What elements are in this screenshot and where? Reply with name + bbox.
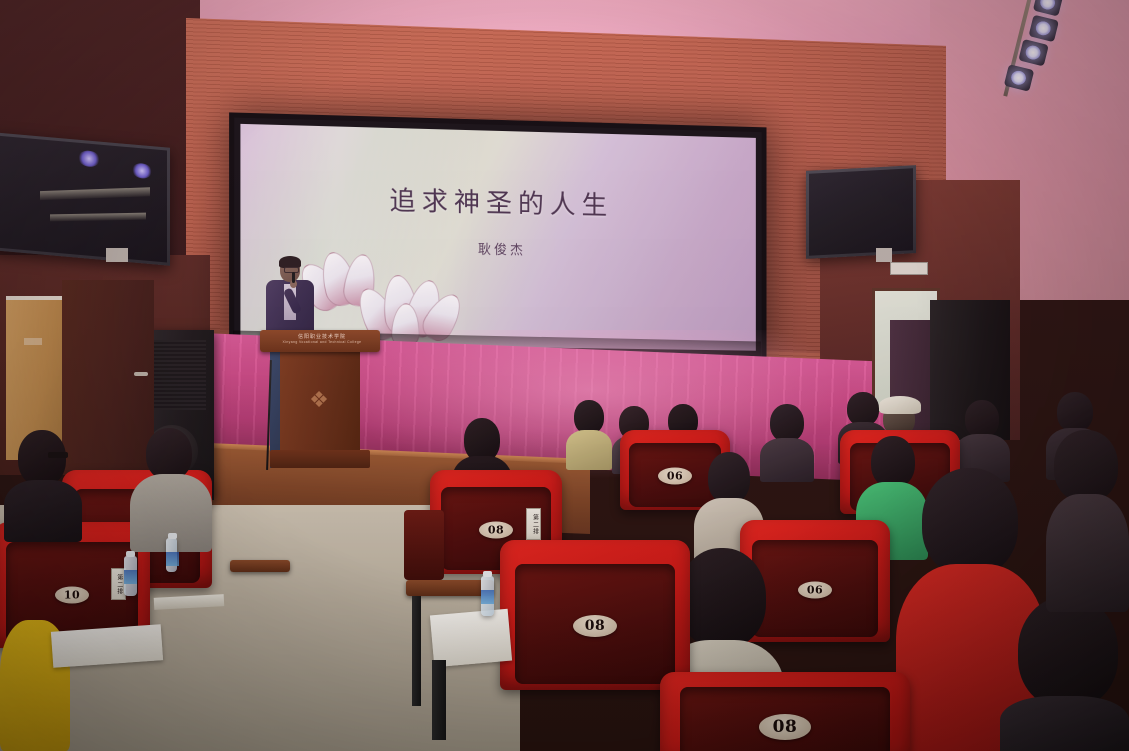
tv-right — [806, 165, 916, 259]
audience-head — [18, 430, 66, 486]
seat-back-panel: 08 — [680, 687, 890, 751]
stage-light-2 — [1028, 15, 1059, 43]
audience-head — [574, 400, 604, 434]
audience-shoulders — [566, 430, 612, 470]
tv-left-reflection-b — [132, 162, 152, 179]
podium-base — [270, 450, 370, 468]
audience-member — [1046, 430, 1129, 610]
seat[interactable]: 08 — [660, 672, 910, 751]
water-bottle[interactable] — [166, 538, 177, 572]
bottle-cap — [126, 551, 135, 557]
seat-number-badge: 10 — [55, 586, 89, 603]
audience-head — [1057, 392, 1093, 432]
row-label-text: 第二排 — [530, 514, 537, 535]
audience-shoulders — [1000, 696, 1129, 751]
door-sign — [24, 338, 42, 345]
seat-number-badge: 08 — [573, 615, 617, 637]
tv-left — [0, 132, 170, 266]
bottle-label — [166, 552, 179, 566]
stage-light-3 — [1018, 39, 1049, 67]
tv-left-reflection-wall — [40, 187, 150, 200]
seat-number-badge: 06 — [798, 582, 832, 599]
cap-icon — [879, 396, 921, 414]
audience-member — [130, 428, 212, 550]
audience-head — [770, 404, 804, 442]
podium-institution-en: Xinyang Vocational and Technical College — [280, 340, 364, 345]
audience-head — [678, 548, 766, 648]
tv-right-mount — [876, 248, 892, 262]
tv-left-panel — [0, 135, 167, 262]
college-emblem-icon: ❖ — [304, 386, 334, 414]
bottle-cap — [483, 571, 492, 577]
wall-control-plate[interactable] — [890, 262, 928, 275]
seat-number-badge: 06 — [658, 468, 692, 485]
tv-left-reflection-a — [78, 150, 100, 168]
armrest — [230, 560, 290, 572]
water-bottle[interactable] — [124, 556, 137, 596]
seat-back-panel: 08 — [515, 564, 675, 684]
podium: ❖ 信阳职业技术学院 Xinyang Vocational and Techni… — [272, 330, 368, 470]
bottle-cap — [168, 533, 177, 539]
audience-head — [708, 452, 750, 504]
podium-nameplate: 信阳职业技术学院 Xinyang Vocational and Technica… — [280, 334, 364, 347]
auditorium-scene: 追求神圣的人生 耿俊杰 ❖ 信阳职业技术学院 Xin — [0, 0, 1129, 751]
audience-head — [965, 400, 999, 438]
seat-number-badge: 08 — [759, 714, 811, 740]
audience-head — [146, 428, 192, 480]
seat-leg-post — [432, 660, 446, 740]
audience-shoulders — [4, 480, 82, 542]
seat[interactable]: 08 — [500, 540, 690, 690]
tv-left-reflection-wall2 — [50, 213, 146, 222]
audience-shoulders — [760, 438, 814, 482]
audience-head — [922, 468, 1018, 576]
audience-member — [760, 404, 814, 480]
stage-light-1 — [1033, 0, 1064, 17]
seat-leg-post — [412, 596, 421, 706]
audience-member — [1000, 596, 1129, 751]
bottle-label — [124, 570, 137, 584]
audience-head — [1054, 430, 1118, 502]
water-bottle[interactable] — [481, 576, 494, 616]
glasses-icon — [48, 452, 68, 458]
audience-member — [566, 400, 612, 470]
handout-papers[interactable] — [51, 624, 163, 668]
bottle-label — [481, 590, 494, 604]
audience-shoulders — [1046, 494, 1129, 612]
row-label-text: 第二排 — [115, 574, 122, 595]
seat-pan-folded[interactable] — [404, 510, 444, 580]
microphone-icon — [292, 272, 295, 283]
tv-right-panel — [809, 168, 913, 255]
seat-number-badge: 08 — [479, 521, 513, 538]
handout-papers[interactable] — [430, 609, 512, 668]
audience-head — [1018, 596, 1118, 708]
door-handle[interactable] — [134, 372, 148, 376]
tv-left-mount — [106, 248, 128, 262]
audience-member — [4, 430, 82, 540]
row-label-tag: 第二排 — [526, 508, 541, 540]
